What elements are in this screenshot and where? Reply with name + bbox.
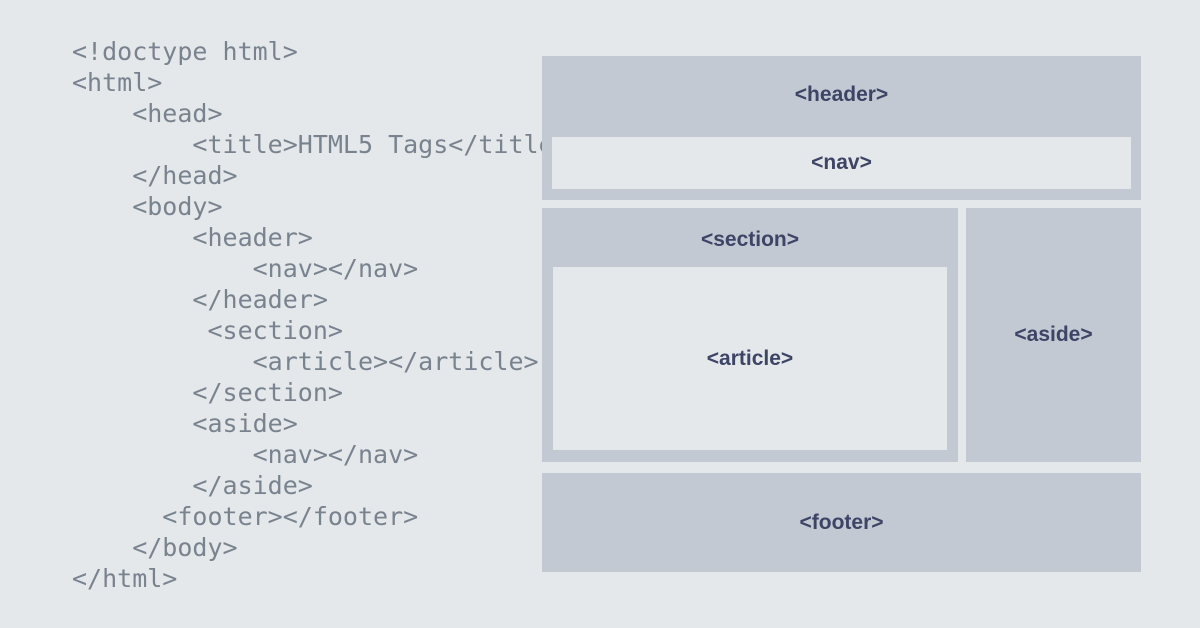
code-line: </head> [72,160,512,191]
code-line: <header> [72,222,512,253]
code-line: </aside> [72,470,512,501]
page-canvas: <!doctype html><html> <head> <title>HTML… [0,0,1200,628]
diagram-label-footer: <footer> [799,511,883,535]
diagram-label-header: <header> [795,83,888,107]
diagram-label-section: <section> [701,228,799,252]
diagram-block-nav: <nav> [552,137,1131,189]
diagram-block-section: <section> <article> [542,208,958,462]
code-line: <!doctype html> [72,36,512,67]
diagram-label-article: <article> [707,347,793,371]
diagram-block-footer: <footer> [542,473,1141,572]
code-line: </html> [72,563,512,594]
diagram-label-aside: <aside> [1014,323,1092,347]
code-line: </section> [72,377,512,408]
code-line: <html> [72,67,512,98]
code-line: <aside> [72,408,512,439]
code-block: <!doctype html><html> <head> <title>HTML… [72,36,512,594]
code-line: </body> [72,532,512,563]
code-line: <article></article> [72,346,512,377]
code-line: <head> [72,98,512,129]
diagram-block-aside: <aside> [966,208,1141,462]
code-line: <nav></nav> [72,253,512,284]
code-listing: <!doctype html><html> <head> <title>HTML… [72,36,512,594]
code-line: <footer></footer> [72,501,512,532]
diagram-block-article: <article> [553,267,947,450]
diagram-label-nav: <nav> [811,151,872,175]
code-line: <nav></nav> [72,439,512,470]
code-line: <section> [72,315,512,346]
code-line: <title>HTML5 Tags</title> [72,129,512,160]
diagram-block-header: <header> <nav> [542,56,1141,200]
code-line: </header> [72,284,512,315]
code-line: <body> [72,191,512,222]
